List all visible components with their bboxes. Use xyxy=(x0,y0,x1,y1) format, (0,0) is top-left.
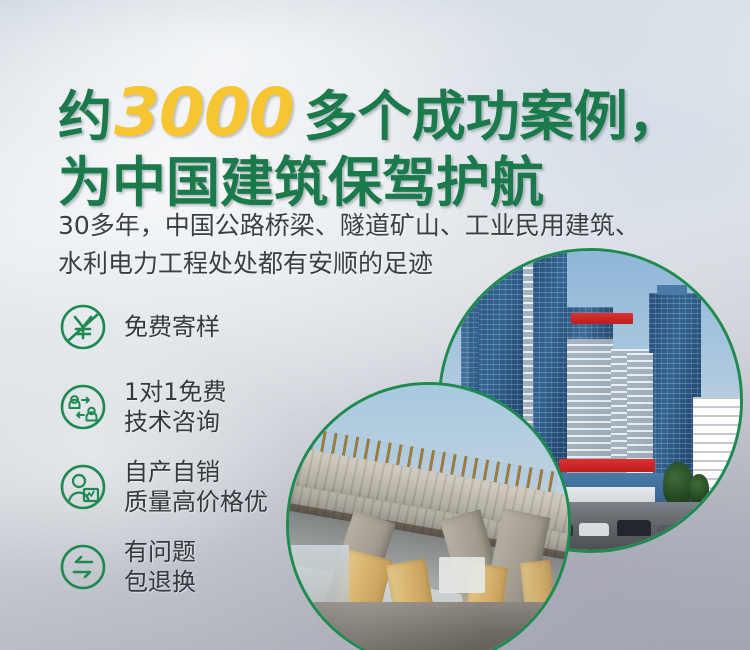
headline-line-1: 约 3000 多个成功案例， xyxy=(58,80,682,146)
feature-label: 免费寄样 xyxy=(124,312,220,342)
headline-number: 3000 xyxy=(114,80,294,146)
feature-label: 自产自销 质量高价格优 xyxy=(124,457,268,517)
feature-item-free-sample[interactable]: 免费寄样 xyxy=(58,296,358,358)
headline: 约 3000 多个成功案例， 为中国建筑保驾护航 xyxy=(58,80,682,210)
exchange-return-icon xyxy=(58,542,108,592)
headline-prefix: 约 xyxy=(58,90,112,144)
subtitle-line-1: 30多年，中国公路桥梁、隧道矿山、工业民用建筑、 xyxy=(58,208,640,244)
one-to-one-consult-icon xyxy=(58,382,108,432)
headline-suffix: 多个成功案例， xyxy=(304,90,682,144)
promo-banner: 约 3000 多个成功案例， 为中国建筑保驾护航 30多年，中国公路桥梁、隧道矿… xyxy=(0,0,750,650)
no-fee-yuan-icon xyxy=(58,302,108,352)
feature-label: 1对1免费 技术咨询 xyxy=(124,377,227,437)
self-production-chart-icon xyxy=(58,462,108,512)
feature-label: 有问题 包退换 xyxy=(124,537,196,597)
bridge-photo xyxy=(286,382,571,650)
headline-line-2: 为中国建筑保驾护航 xyxy=(58,156,682,210)
